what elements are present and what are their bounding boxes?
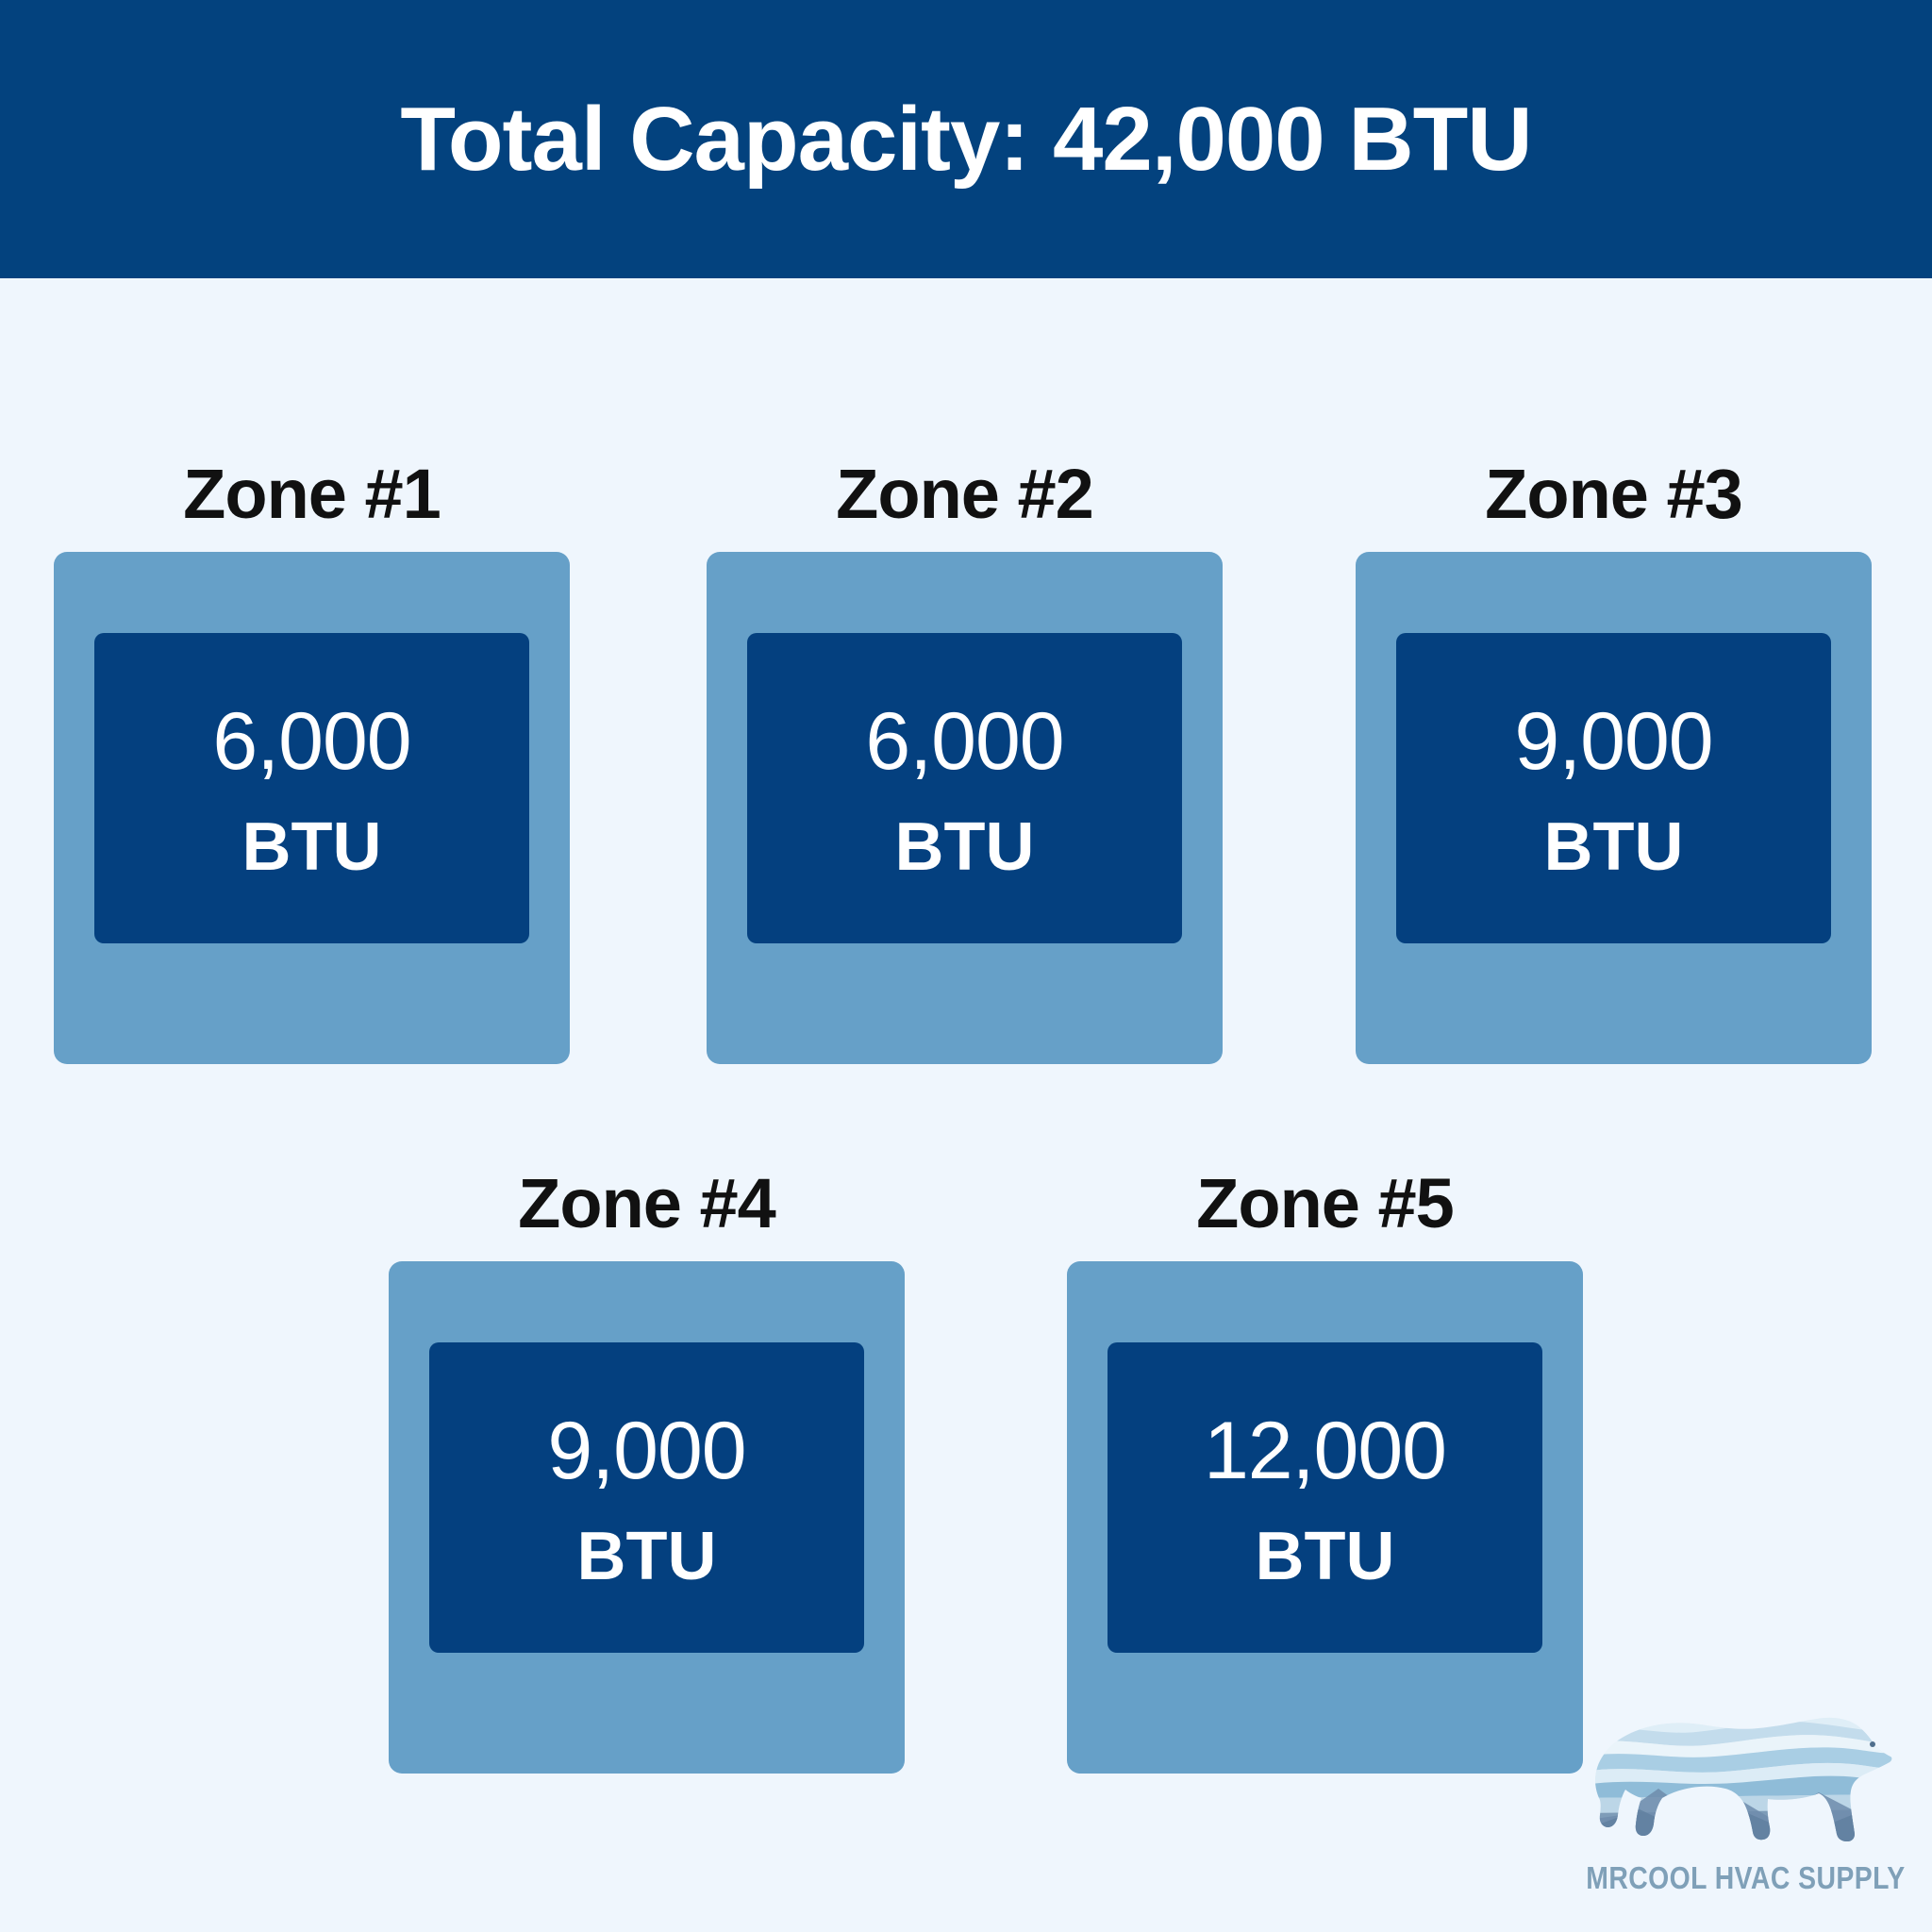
zone-capacity-unit-4: BTU <box>577 1522 717 1593</box>
zone-inner-panel-4: 9,000 BTU <box>429 1342 864 1653</box>
zone-outer-frame-3: 9,000 BTU <box>1356 552 1872 1064</box>
zone-outer-frame-1: 6,000 BTU <box>54 552 570 1064</box>
zone-label-5: Zone #5 <box>1067 1163 1583 1239</box>
zone-capacity-value-2: 6,000 <box>865 699 1063 784</box>
zone-card-1[interactable]: Zone #1 6,000 BTU <box>54 454 570 1064</box>
zone-outer-frame-5: 12,000 BTU <box>1067 1261 1583 1774</box>
zone-capacity-unit-3: BTU <box>1544 812 1684 884</box>
zone-capacity-unit-1: BTU <box>242 812 382 884</box>
polar-bear-icon <box>1583 1698 1894 1857</box>
zone-label-4: Zone #4 <box>389 1163 905 1239</box>
header-banner: Total Capacity: 42,000 BTU <box>0 0 1932 278</box>
zone-inner-panel-1: 6,000 BTU <box>94 633 529 943</box>
page-title: Total Capacity: 42,000 BTU <box>400 94 1531 185</box>
zone-label-3: Zone #3 <box>1356 454 1872 529</box>
brand-logo: MRCOOL HVAC SUPPLY <box>1561 1698 1915 1915</box>
zone-outer-frame-2: 6,000 BTU <box>707 552 1223 1064</box>
zone-inner-panel-5: 12,000 BTU <box>1108 1342 1542 1653</box>
brand-logo-wordmark: MRCOOL HVAC SUPPLY <box>1586 1862 1890 1893</box>
zone-capacity-unit-5: BTU <box>1256 1522 1395 1593</box>
zone-card-4[interactable]: Zone #4 9,000 BTU <box>389 1163 905 1774</box>
zone-inner-panel-2: 6,000 BTU <box>747 633 1182 943</box>
zone-capacity-value-1: 6,000 <box>212 699 410 784</box>
zone-grid: Zone #1 6,000 BTU Zone #2 6,000 BTU Zone… <box>0 278 1932 1932</box>
zone-capacity-value-3: 9,000 <box>1514 699 1712 784</box>
zone-card-3[interactable]: Zone #3 9,000 BTU <box>1356 454 1872 1064</box>
zone-label-1: Zone #1 <box>54 454 570 529</box>
zone-outer-frame-4: 9,000 BTU <box>389 1261 905 1774</box>
zone-capacity-value-4: 9,000 <box>547 1408 745 1493</box>
zone-card-5[interactable]: Zone #5 12,000 BTU <box>1067 1163 1583 1774</box>
zone-capacity-value-5: 12,000 <box>1204 1408 1446 1493</box>
zone-capacity-unit-2: BTU <box>895 812 1035 884</box>
zone-card-2[interactable]: Zone #2 6,000 BTU <box>707 454 1223 1064</box>
zone-inner-panel-3: 9,000 BTU <box>1396 633 1831 943</box>
zone-label-2: Zone #2 <box>707 454 1223 529</box>
